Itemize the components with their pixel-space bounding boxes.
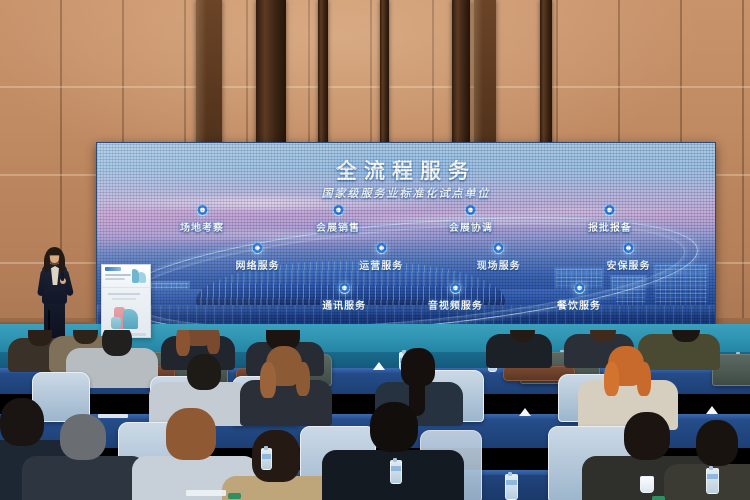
node-dot-icon <box>493 243 504 254</box>
roll-up-banner <box>101 264 151 338</box>
service-label: 会展协调 <box>426 219 516 234</box>
water-bottle <box>390 460 402 484</box>
paper-cup <box>640 476 654 493</box>
service-node[interactable]: 通讯服务 <box>299 283 389 312</box>
water-bottle <box>706 468 719 494</box>
service-label: 运营服务 <box>336 257 426 272</box>
name-card <box>373 362 385 370</box>
name-card <box>519 408 531 416</box>
document <box>186 490 226 496</box>
document <box>98 414 128 418</box>
node-dot-icon <box>339 283 350 294</box>
conference-hall-scene: 全流程服务 国家级服务业标准化试点单位 场地考察 会展销售 会展协调 报批报备 … <box>0 0 750 500</box>
phone <box>228 493 241 499</box>
node-dot-icon <box>450 283 461 294</box>
service-label: 音视频服务 <box>410 297 500 312</box>
service-label: 通讯服务 <box>299 297 389 312</box>
service-node[interactable]: 现场服务 <box>454 243 544 272</box>
presenter <box>38 248 72 340</box>
node-dot-icon <box>197 205 208 216</box>
phone <box>652 496 665 500</box>
service-node[interactable]: 会展协调 <box>426 205 516 234</box>
service-label: 安保服务 <box>583 257 673 272</box>
node-dot-icon <box>604 205 615 216</box>
banner-logo <box>105 267 121 271</box>
water-bottle <box>261 448 272 470</box>
screen-subtitle: 国家级服务业标准化试点单位 <box>97 185 715 201</box>
service-node[interactable]: 餐饮服务 <box>534 283 624 312</box>
service-node[interactable]: 运营服务 <box>336 243 426 272</box>
service-label: 现场服务 <box>454 257 544 272</box>
service-node[interactable]: 网络服务 <box>213 243 303 272</box>
service-label: 场地考察 <box>157 219 247 234</box>
service-label: 报批报备 <box>565 219 655 234</box>
service-node[interactable]: 安保服务 <box>583 243 673 272</box>
audience-area <box>0 330 750 500</box>
service-label: 会展销售 <box>293 219 383 234</box>
service-label: 网络服务 <box>213 257 303 272</box>
service-node[interactable]: 报批报备 <box>565 205 655 234</box>
node-dot-icon <box>623 243 634 254</box>
service-node[interactable]: 音视频服务 <box>410 283 500 312</box>
node-dot-icon <box>574 283 585 294</box>
node-dot-icon <box>376 243 387 254</box>
service-node[interactable]: 会展销售 <box>293 205 383 234</box>
node-dot-icon <box>252 243 263 254</box>
service-node[interactable]: 场地考察 <box>157 205 247 234</box>
water-bottle <box>505 474 518 500</box>
screen-title: 全流程服务 <box>97 155 715 185</box>
led-display-screen[interactable]: 全流程服务 国家级服务业标准化试点单位 场地考察 会展销售 会展协调 报批报备 … <box>96 142 716 326</box>
service-label: 餐饮服务 <box>534 297 624 312</box>
microphone-icon <box>61 272 64 281</box>
name-card <box>706 406 718 414</box>
node-dot-icon <box>465 205 476 216</box>
node-dot-icon <box>333 205 344 216</box>
